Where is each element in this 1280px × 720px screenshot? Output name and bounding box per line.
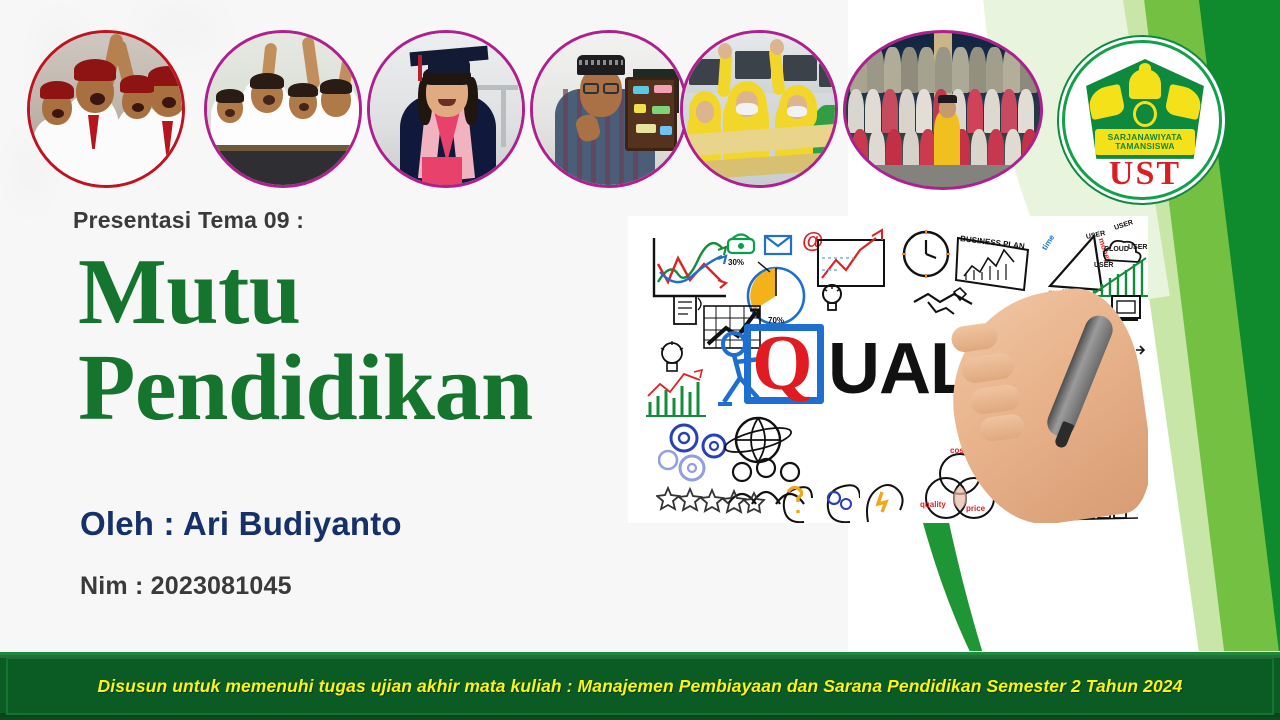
ust-university-logo: SARJANAWIYATA TAMANSISWA UST [1062, 40, 1222, 200]
photo-school-group-photo [843, 30, 1043, 190]
slide-kicker: Presentasi Tema 09 : [73, 207, 304, 234]
green-bar-chart-doodle-icon [644, 362, 710, 424]
clock-doodle-icon [898, 226, 954, 282]
logo-acronym: UST [1065, 155, 1222, 193]
photo-strip [0, 0, 1060, 200]
logo-bell-cap-icon [1139, 63, 1151, 73]
page-title-line-2: Pendidikan [78, 341, 638, 437]
photo-teacher-batik-learning-board [530, 30, 688, 188]
handshake-doodle-icon [910, 278, 976, 322]
photo-girl-graduate-cap-gown [367, 30, 525, 188]
photo-students-yellow-uniform-computer-lab [680, 30, 838, 188]
photo-students-raising-hands-classroom [204, 30, 362, 188]
quality-infographic-image: @ 30% 70% BUS [628, 216, 1148, 523]
footer-banner-text: Disusun untuk memenuhi tugas ujian akhir… [98, 676, 1183, 697]
presentation-slide: SARJANAWIYATA TAMANSISWA UST Presentasi … [0, 0, 1280, 720]
gears-head-doodle-icon [816, 476, 860, 523]
quality-venn-label: quality [920, 500, 946, 509]
user-label-1: USER [1113, 219, 1134, 232]
student-id: Nim : 2023081045 [80, 572, 292, 601]
logo-center-emblem-icon [1133, 101, 1157, 127]
logo-bell-icon [1129, 69, 1161, 99]
quality-q-letter: Q [752, 328, 816, 398]
page-title-line-1: Mutu [78, 245, 638, 341]
user-label-2: USER [1128, 244, 1147, 251]
author-name: Oleh : Ari Budiyanto [80, 505, 402, 543]
photo-cheering-students-red-white-uniform [27, 30, 185, 188]
logo-band-line-2: TAMANSISWA [1115, 142, 1174, 151]
footer-banner: Disusun untuk memenuhi tugas ujian akhir… [0, 652, 1280, 720]
telephone-doodle-icon [724, 230, 758, 258]
page-title: Mutu Pendidikan [78, 245, 638, 437]
price-label: price [966, 504, 985, 513]
envelope-doodle-icon [762, 232, 794, 258]
footer-banner-inner: Disusun untuk memenuhi tugas ujian akhir… [6, 657, 1274, 715]
star-rating-doodle-icon [656, 484, 766, 518]
logo-name-band: SARJANAWIYATA TAMANSISWA [1095, 129, 1195, 155]
question-head-doodle-icon [774, 478, 814, 523]
idea-head-doodle-icon [860, 474, 904, 523]
trend-chart-doodle-icon [816, 226, 891, 296]
